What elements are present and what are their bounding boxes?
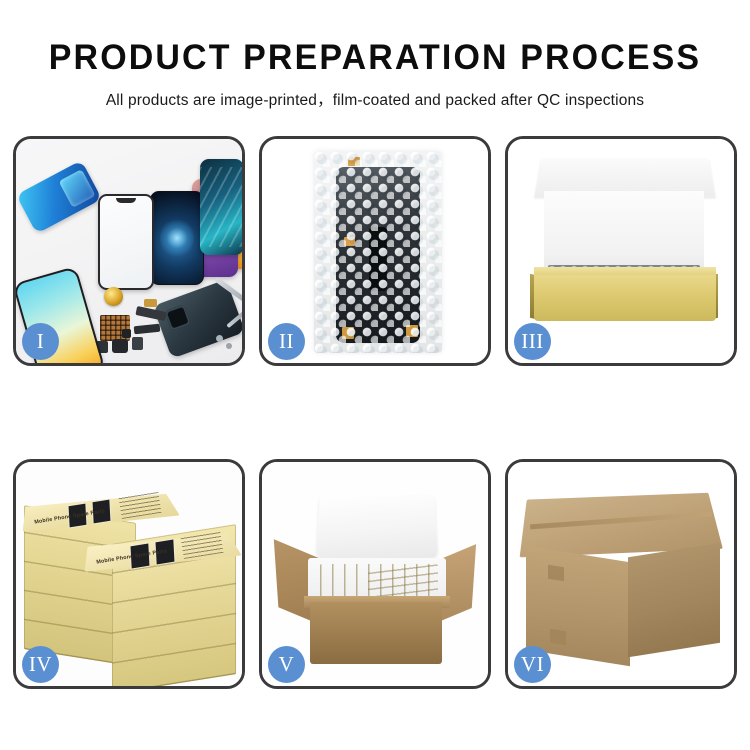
screw-icon	[216, 335, 223, 342]
screen-glass-icon	[98, 194, 154, 290]
component-icon	[112, 339, 128, 353]
carton-side-icon	[628, 543, 720, 658]
page-header: PRODUCT PREPARATION PROCESS All products…	[0, 0, 750, 110]
phone-dark-icon	[150, 191, 204, 285]
step-badge-1: I	[22, 323, 59, 360]
tape-patch-icon	[550, 629, 566, 646]
carton-body-icon	[310, 602, 442, 664]
step-badge-2: II	[268, 323, 305, 360]
page-subtitle: All products are image-printed，film-coat…	[0, 88, 750, 110]
component-icon	[132, 337, 143, 350]
process-step-2[interactable]: II	[259, 136, 491, 366]
bubble-texture	[314, 151, 442, 353]
process-step-4[interactable]: Mobile Phone Spare Parts Mobile Phone Sp…	[13, 459, 245, 689]
coil-part-icon	[104, 287, 123, 306]
step-badge-3: III	[514, 323, 551, 360]
kraft-box-icon	[534, 275, 716, 321]
step-badge-4: IV	[22, 646, 59, 683]
bubble-wrap-package-icon	[314, 151, 442, 353]
tape-patch-icon	[548, 565, 564, 582]
process-step-3[interactable]: III	[505, 136, 737, 366]
step-badge-5: V	[268, 646, 305, 683]
process-step-5[interactable]: V	[259, 459, 491, 689]
page-title: PRODUCT PREPARATION PROCESS	[11, 40, 739, 77]
process-step-grid: I II III	[13, 136, 737, 689]
component-icon	[144, 299, 157, 307]
process-step-1[interactable]: I	[13, 136, 245, 366]
foam-lid-icon	[316, 494, 438, 558]
component-icon	[122, 329, 131, 338]
phone-teal-icon	[200, 159, 242, 255]
screw-icon	[226, 343, 232, 349]
process-step-6[interactable]: VI	[505, 459, 737, 689]
step-badge-6: VI	[514, 646, 551, 683]
